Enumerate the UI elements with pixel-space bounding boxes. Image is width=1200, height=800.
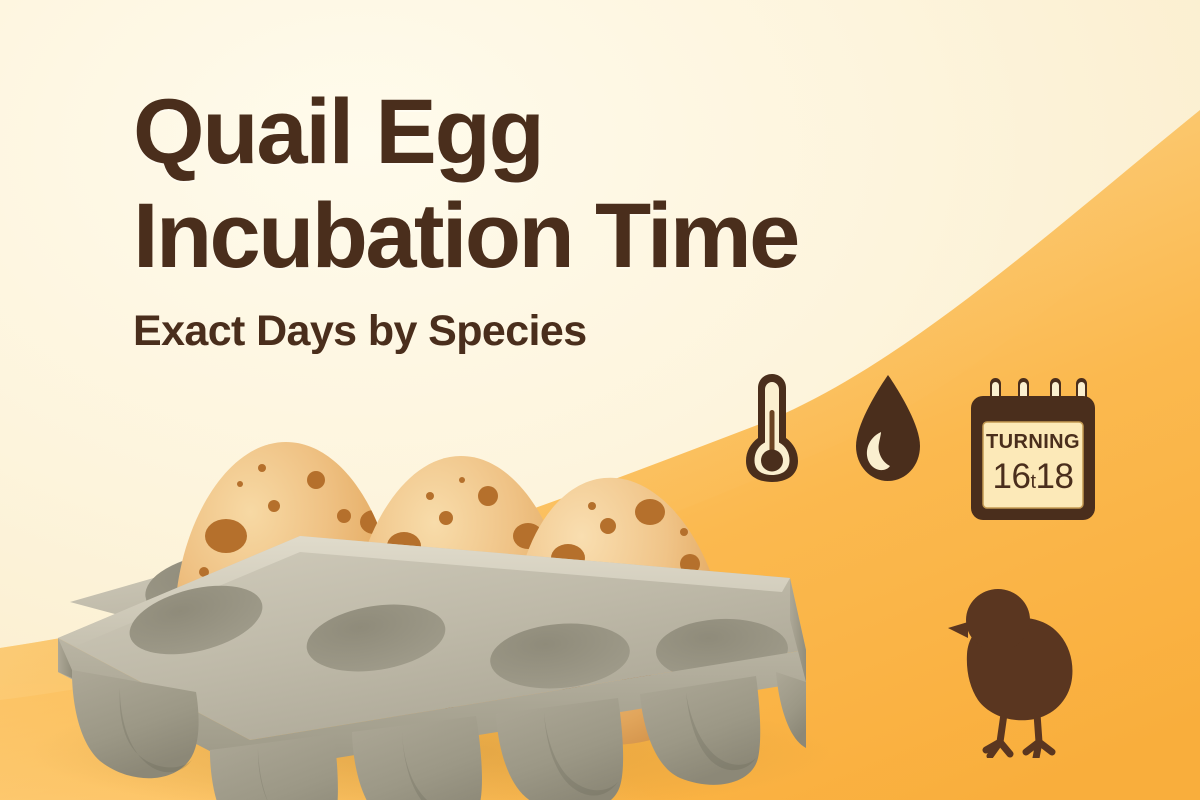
page-title-line-2: Incubation Time <box>133 192 1013 280</box>
chick-silhouette-icon <box>938 568 1088 758</box>
page-subtitle: Exact Days by Species <box>133 307 1013 356</box>
thermometer-icon <box>744 372 800 484</box>
calendar-icon: TURNING 16t18 <box>966 374 1100 524</box>
headline-block: Quail Egg Incubation Time Exact Days by … <box>133 88 1013 356</box>
humidity-droplet-icon <box>852 372 924 484</box>
page-title-line-1: Quail Egg <box>133 88 1013 176</box>
poster-canvas: Quail Egg Incubation Time Exact Days by … <box>0 0 1200 800</box>
